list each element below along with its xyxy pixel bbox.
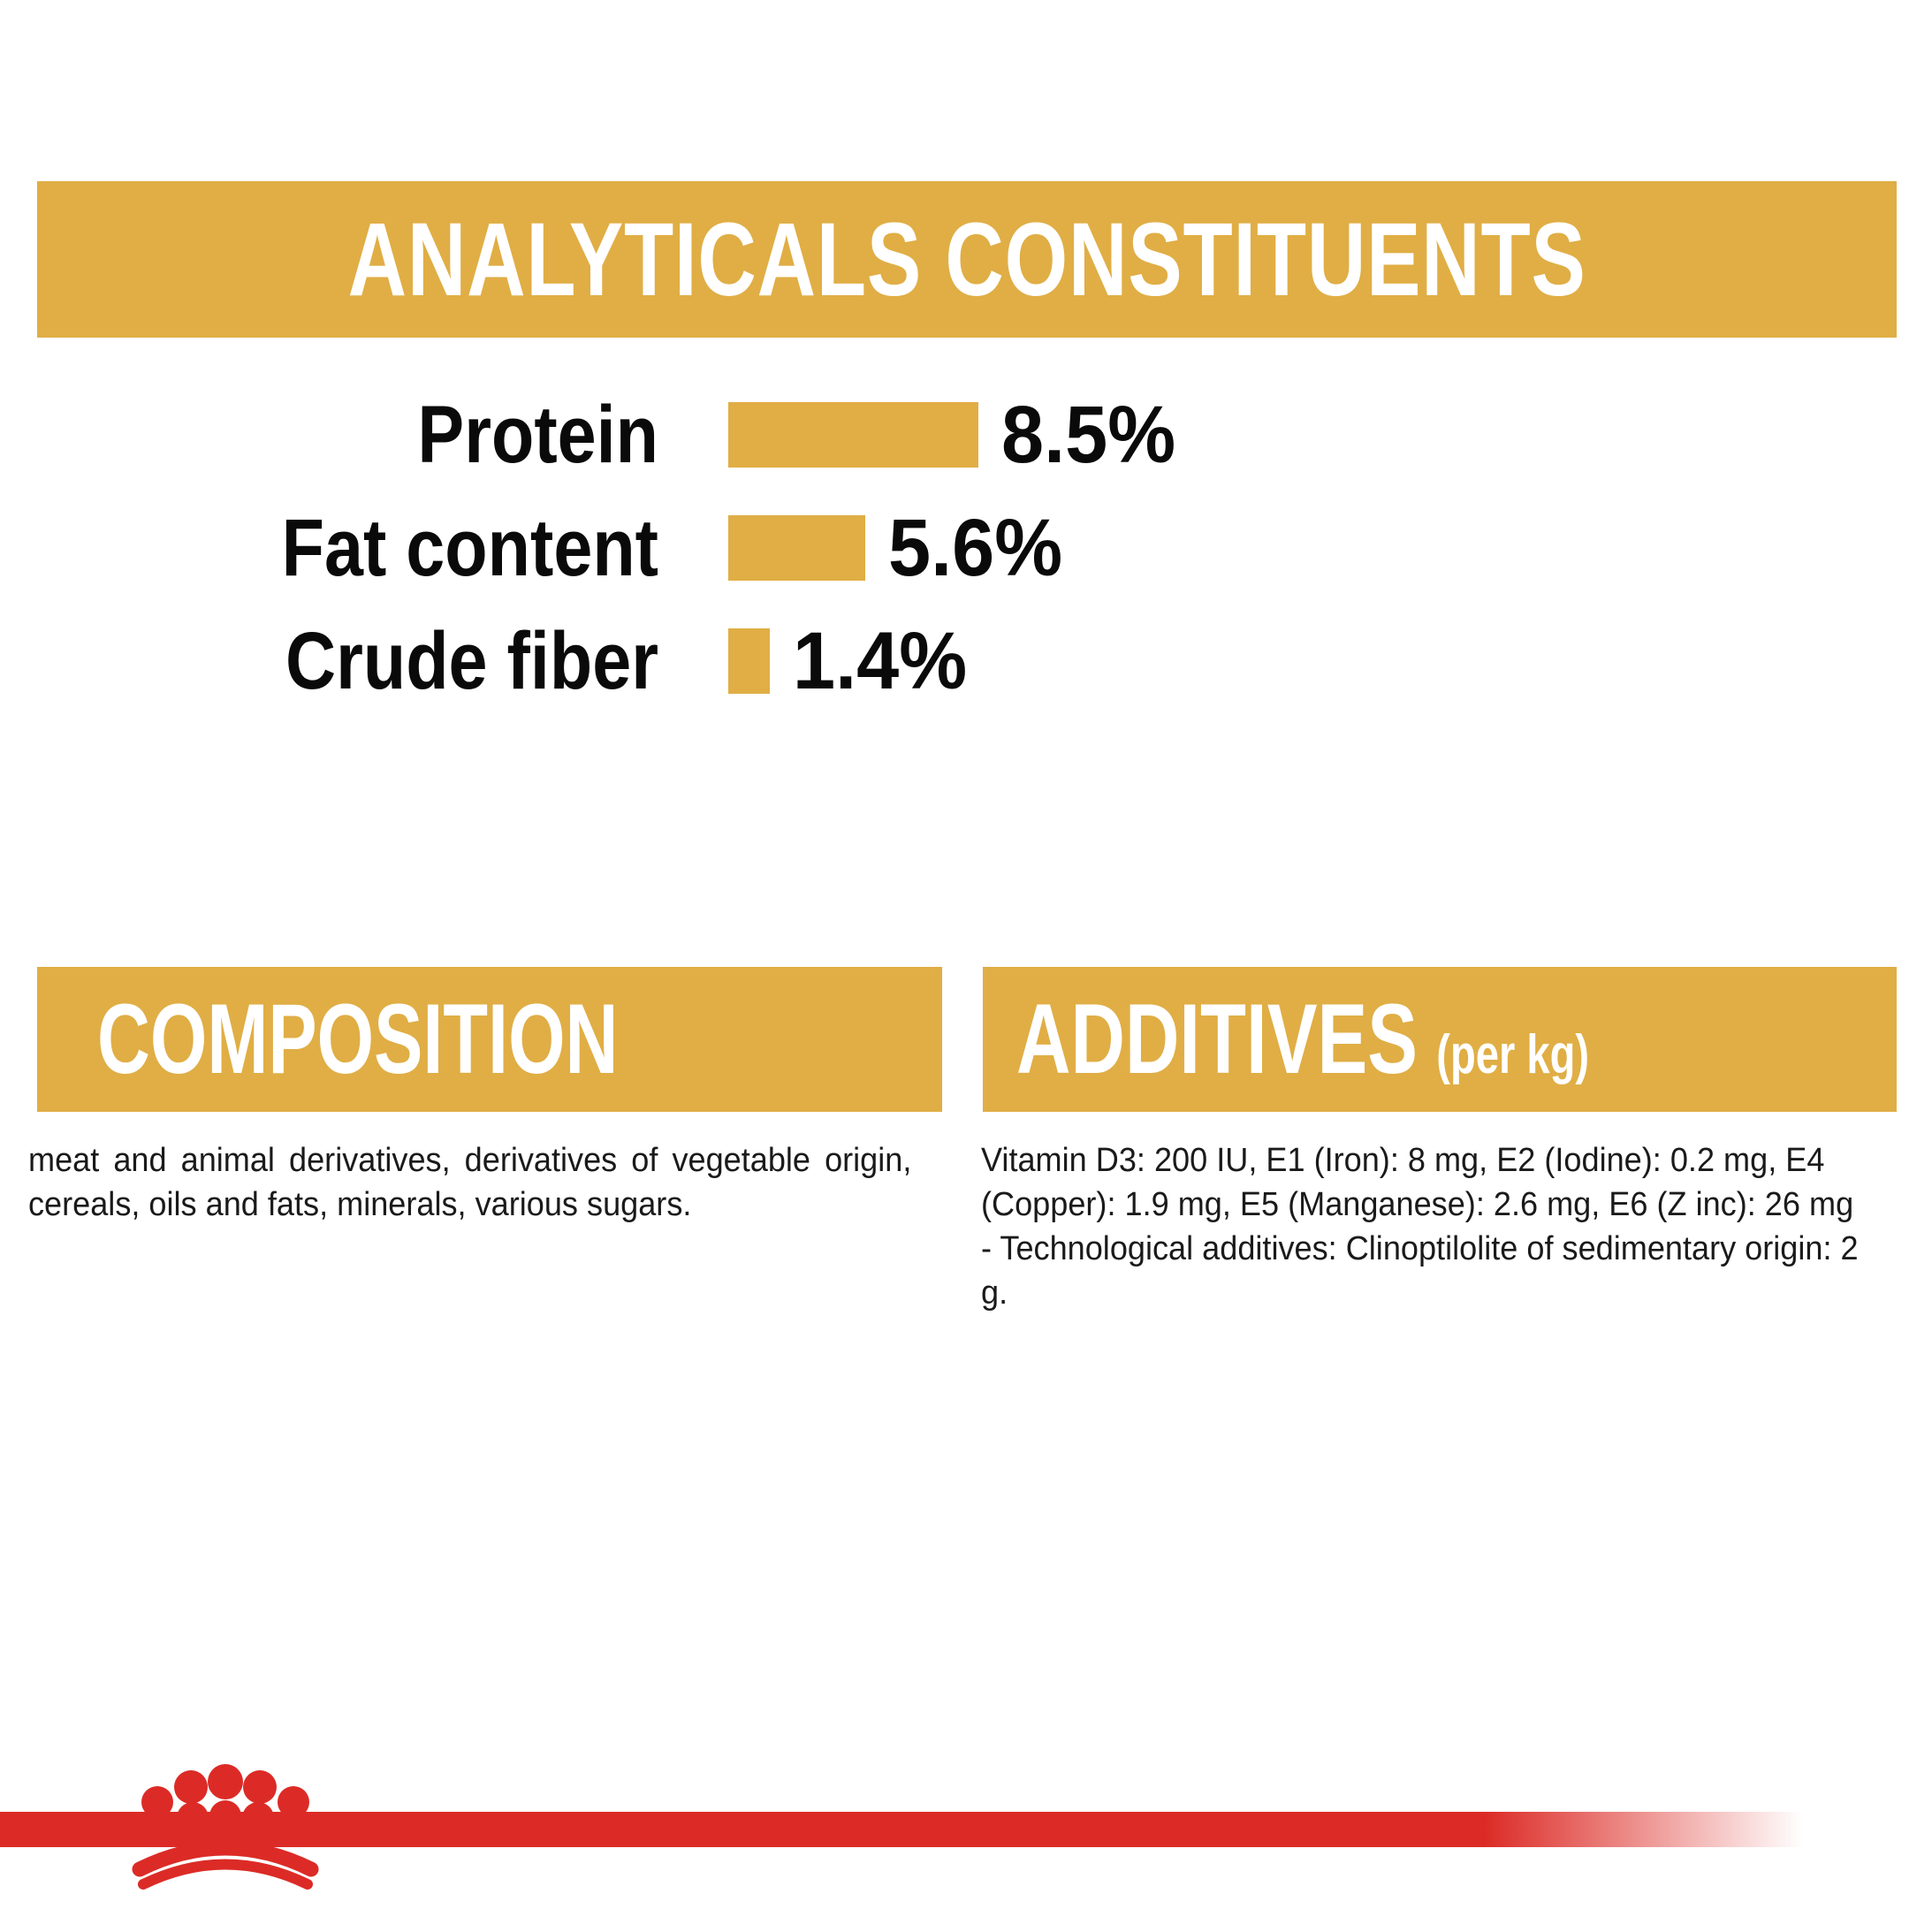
brand-stripe-fade	[1485, 1812, 1803, 1847]
composition-body-text: meat and animal derivatives, derivatives…	[28, 1138, 911, 1227]
nutrient-row-protein: Protein 8.5%	[0, 380, 1932, 490]
analyticals-constituents-header: ANALYTICALS CONSTITUENTS	[37, 181, 1897, 338]
nutrient-value-protein: 8.5%	[1001, 394, 1175, 475]
nutrient-value-fat-content: 5.6%	[888, 507, 1062, 589]
analyticals-constituents-title: ANALYTICALS CONSTITUENTS	[347, 208, 1586, 312]
additives-title-group: ADDITIVES (per kg)	[1016, 990, 1589, 1089]
nutrient-label-crude-fiber: Crude fiber	[92, 620, 658, 702]
nutrient-bar-wrap-fat-content: 5.6%	[728, 507, 1074, 589]
additives-header: ADDITIVES (per kg)	[983, 967, 1897, 1112]
nutrient-bar-protein	[728, 402, 978, 468]
nutrient-bar-crude-fiber	[728, 628, 770, 694]
composition-header: COMPOSITION	[37, 967, 942, 1112]
nutrient-row-crude-fiber: Crude fiber 1.4%	[0, 606, 1932, 716]
nutrient-bar-wrap-protein: 8.5%	[728, 394, 1187, 475]
analyticals-constituents-chart: Protein 8.5% Fat content 5.6% Crude fibe…	[0, 380, 1932, 719]
nutrient-bar-wrap-crude-fiber: 1.4%	[728, 620, 978, 702]
nutrient-row-fat-content: Fat content 5.6%	[0, 493, 1932, 603]
additives-body-text: Vitamin D3: 200 IU, E1 (Iron): 8 mg, E2 …	[981, 1138, 1869, 1315]
nutrient-label-fat-content: Fat content	[92, 507, 658, 589]
royal-canin-crown-logo	[124, 1763, 327, 1896]
additives-subtitle-per-kg: (per kg)	[1436, 1028, 1589, 1083]
nutrient-label-protein: Protein	[92, 394, 658, 475]
composition-title: COMPOSITION	[97, 990, 618, 1089]
nutrient-bar-fat-content	[728, 515, 865, 581]
additives-title: ADDITIVES	[1016, 990, 1418, 1089]
nutrient-value-crude-fiber: 1.4%	[793, 620, 967, 702]
